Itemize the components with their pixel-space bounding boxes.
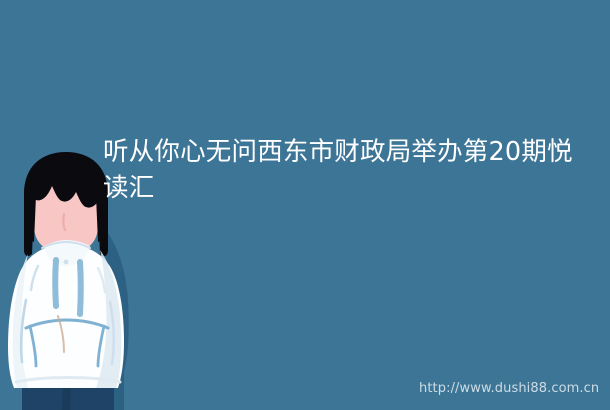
watermark-url: http://www.dushi88.com.cn [419,381,599,397]
poster-canvas: 听从你心无问西东市财政局举办第20期悦读汇 http://www.dushi88… [0,0,610,410]
drawstring-right [80,262,81,314]
hood-eyelet [64,260,69,265]
page-title: 听从你心无问西东市财政局举办第20期悦读汇 [103,134,591,206]
drawstring-left [55,260,56,306]
